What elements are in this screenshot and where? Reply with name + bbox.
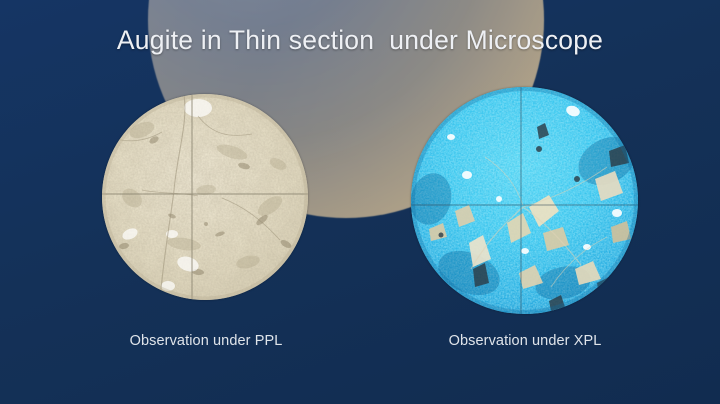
slide-canvas: Augite in Thin section under Microscope <box>0 0 720 404</box>
caption-ppl: Observation under PPL <box>100 333 312 349</box>
microscope-image-xpl <box>411 87 638 314</box>
caption-xpl: Observation under XPL <box>412 333 638 349</box>
ppl-thin-section-graphic <box>102 94 308 300</box>
page-title: Augite in Thin section under Microscope <box>0 25 720 56</box>
xpl-thin-section-graphic <box>411 87 638 314</box>
microscope-image-ppl <box>102 94 308 300</box>
